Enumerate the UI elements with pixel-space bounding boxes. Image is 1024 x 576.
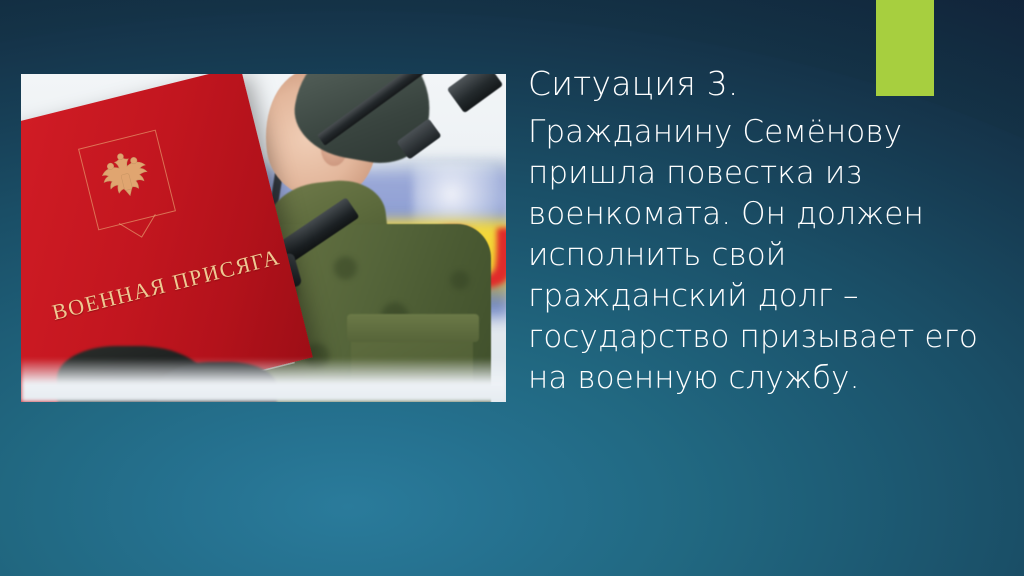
slide-body-text: Гражданину Семёнову пришла повестка из в… <box>528 112 998 399</box>
slide-text-column: Ситуация 3. Гражданину Семёнову пришла п… <box>528 62 998 399</box>
slide-title: Ситуация 3. <box>528 62 998 106</box>
slide-photo: СЛ ВОЕННАЯ ПРИСЯГА <box>21 74 506 402</box>
slide-canvas: СЛ ВОЕННАЯ ПРИСЯГА <box>0 0 1024 576</box>
photo-snow-foreground <box>21 358 506 402</box>
photo-uniform-pocket-flap <box>347 314 479 342</box>
